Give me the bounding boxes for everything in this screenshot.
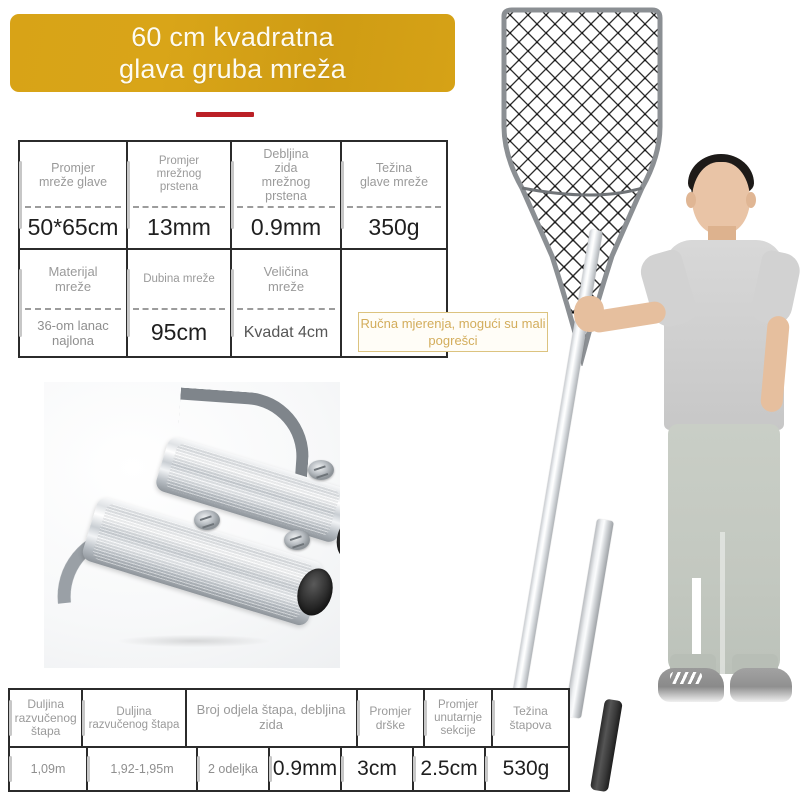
- cell-value: 50*65cm: [20, 208, 126, 248]
- closeup-screw-top: [308, 460, 334, 480]
- telescopic-pole-upper-section: [508, 229, 603, 724]
- model-head: [692, 162, 750, 234]
- cell-header-text: Promjer drške: [361, 705, 421, 732]
- cell-value: 36-om lanacnajlona: [20, 310, 126, 356]
- model-ear-right: [746, 192, 756, 208]
- model-ear-left: [686, 192, 696, 208]
- red-divider-rule: [196, 112, 254, 117]
- cell-header-text: Duljina razvučenog štapa: [86, 706, 181, 732]
- closeup-end-cap-main: [292, 564, 339, 620]
- cell-net-material: Materijalmreže 36-om lanacnajlona: [20, 250, 128, 356]
- cell-value: 13mm: [128, 208, 230, 248]
- table-value-row: 1,09m 1,92-1,95m 2 odeljka 0.9mm 3cm 2.5…: [10, 746, 568, 790]
- header-collapsed-pole-length: Duljina razvučenog štapa: [10, 690, 83, 746]
- closeup-drop-shadow: [84, 632, 304, 650]
- cell-header-text: Duljina razvučenog štapa: [13, 698, 78, 738]
- value-inner-section-diameter: 2.5cm: [414, 748, 486, 790]
- cell-header-text: Promjer unutarnje sekcije: [428, 699, 488, 738]
- note-text: Ručna mjerenja, mogući su mali pogrešci: [359, 315, 547, 349]
- closeup-tube-ribs-upper: [165, 442, 340, 538]
- model-pant-cuff-left: [670, 654, 716, 676]
- cell-header: Promjermreže glave: [20, 142, 126, 206]
- value-pole-weight: 530g: [486, 748, 566, 790]
- cell-value: 2.5cm: [414, 748, 484, 790]
- cell-header-text: Debljinazidamrežnogprstena: [262, 147, 311, 203]
- pole-spec-table: Duljina razvučenog štapa Duljina razvuče…: [8, 688, 570, 792]
- header-sections-and-wall-thickness: Broj odjela štapa, debljina zida: [187, 690, 358, 746]
- cell-value: 3cm: [342, 748, 412, 790]
- closeup-screw-bottom: [284, 530, 310, 550]
- cell-header: Težinaglave mreže: [342, 142, 446, 206]
- model-shoe-laces: [670, 672, 702, 684]
- pole-joint-closeup: [44, 382, 340, 668]
- closeup-tube-ribs-main: [91, 502, 315, 621]
- cell-net-head-diameter: Promjermreže glave 50*65cm: [20, 142, 128, 248]
- value-wall-thickness: 0.9mm: [270, 748, 342, 790]
- telescopic-pole-lower-section: [564, 519, 614, 719]
- value-handle-diameter: 3cm: [342, 748, 414, 790]
- model-sleeve-left: [637, 247, 700, 330]
- closeup-bent-tube-upper: [175, 387, 312, 478]
- table-header-row: Duljina razvučenog štapa Duljina razvuče…: [10, 690, 568, 746]
- model-hair: [688, 154, 754, 196]
- model-hand-left: [574, 296, 604, 332]
- table-row: Promjermreže glave 50*65cm Promjermrežno…: [20, 142, 446, 250]
- closeup-end-cap-upper: [332, 512, 340, 563]
- header-extended-pole-length: Duljina razvučenog štapa: [83, 690, 186, 746]
- banner-line-2: glava gruba mreža: [119, 53, 346, 85]
- cell-value: 350g: [342, 208, 446, 248]
- model-neck: [708, 226, 736, 248]
- cell-net-depth: Dubina mreže 95cm: [128, 250, 232, 356]
- header-handle-diameter: Promjer drške: [358, 690, 426, 746]
- cell-header: Duljina razvučenog štapa: [83, 690, 184, 746]
- cell-header: Debljinazidamrežnogprstena: [232, 142, 340, 206]
- cell-header-text: Dubina mreže: [143, 273, 215, 286]
- cell-value: 95cm: [128, 310, 230, 356]
- cell-header-text: Broj odjela štapa, debljina zida: [187, 703, 356, 732]
- cell-header-text: Promjermreže glave: [39, 161, 107, 189]
- model-arm-right: [760, 315, 790, 413]
- closeup-aluminium-tube-upper: [154, 435, 340, 544]
- closeup-screw-middle: [194, 510, 220, 530]
- model-arm-left: [587, 300, 667, 334]
- model-leg-gap: [692, 578, 701, 674]
- model-sleeve-right: [749, 249, 800, 328]
- header-pole-weight: Težina štapova: [493, 690, 568, 746]
- cell-header: Težina štapova: [493, 690, 568, 746]
- cell-net-ring-diameter: Promjermrežnogprstena 13mm: [128, 142, 232, 248]
- cell-header: Dubina mreže: [128, 250, 230, 308]
- cell-header-text: Težinaglave mreže: [360, 161, 428, 189]
- product-photo-layer: [0, 0, 800, 800]
- cell-mesh-size: Veličinamreže Kvadat 4cm: [232, 250, 342, 356]
- value-number-of-sections: 2 odeljka: [198, 748, 270, 790]
- cell-value: 2 odeljka: [198, 748, 268, 790]
- model-collar: [700, 240, 744, 256]
- measurement-disclaimer-note: Ručna mjerenja, mogući su mali pogrešci: [358, 312, 548, 352]
- cell-header: Veličinamreže: [232, 250, 340, 308]
- cell-header-text: Težina štapova: [496, 705, 565, 732]
- product-infographic: 60 cm kvadratna glava gruba mreža: [0, 0, 800, 800]
- cell-header: Materijalmreže: [20, 250, 126, 308]
- header-inner-section-diameter: Promjer unutarnje sekcije: [425, 690, 493, 746]
- cell-header: Promjermrežnogprstena: [128, 142, 230, 206]
- closeup-background: [44, 382, 340, 668]
- banner-text: 60 cm kvadratna glava gruba mreža: [119, 21, 346, 85]
- cell-value: 0.9mm: [232, 208, 340, 248]
- model-pant-cuff-right: [732, 654, 778, 676]
- cell-header-text: Promjermrežnogprstena: [157, 155, 202, 194]
- pole-foam-grip: [590, 699, 623, 793]
- banner-line-1: 60 cm kvadratna: [131, 22, 334, 52]
- cell-header-text: Materijalmreže: [48, 265, 97, 294]
- model-pants: [668, 424, 780, 674]
- cell-net-ring-wall-thickness: Debljinazidamrežnogprstena 0.9mm: [232, 142, 342, 248]
- closeup-aluminium-tube-main: [80, 495, 325, 627]
- model-shoe-left: [658, 668, 724, 702]
- value-extended-pole-length: 1,92-1,95m: [88, 748, 198, 790]
- cell-value: 530g: [486, 748, 566, 790]
- cell-header: Duljina razvučenog štapa: [10, 690, 81, 746]
- cell-header: Promjer unutarnje sekcije: [425, 690, 491, 746]
- model-holding-net: [640, 148, 800, 800]
- cell-net-head-weight: Težinaglave mreže 350g: [342, 142, 446, 248]
- cell-header: Promjer drške: [358, 690, 424, 746]
- model-tshirt: [664, 240, 784, 430]
- cell-header-text: Veličinamreže: [264, 265, 309, 294]
- cell-value: 1,09m: [10, 748, 86, 790]
- model-shoe-right: [730, 668, 792, 702]
- cell-value: Kvadat 4cm: [232, 310, 340, 356]
- value-collapsed-pole-length: 1,09m: [10, 748, 88, 790]
- title-banner: 60 cm kvadratna glava gruba mreža: [10, 14, 455, 92]
- cell-value: 1,92-1,95m: [88, 748, 196, 790]
- closeup-bent-tube-lower: [51, 521, 190, 604]
- cell-value: 0.9mm: [270, 748, 340, 790]
